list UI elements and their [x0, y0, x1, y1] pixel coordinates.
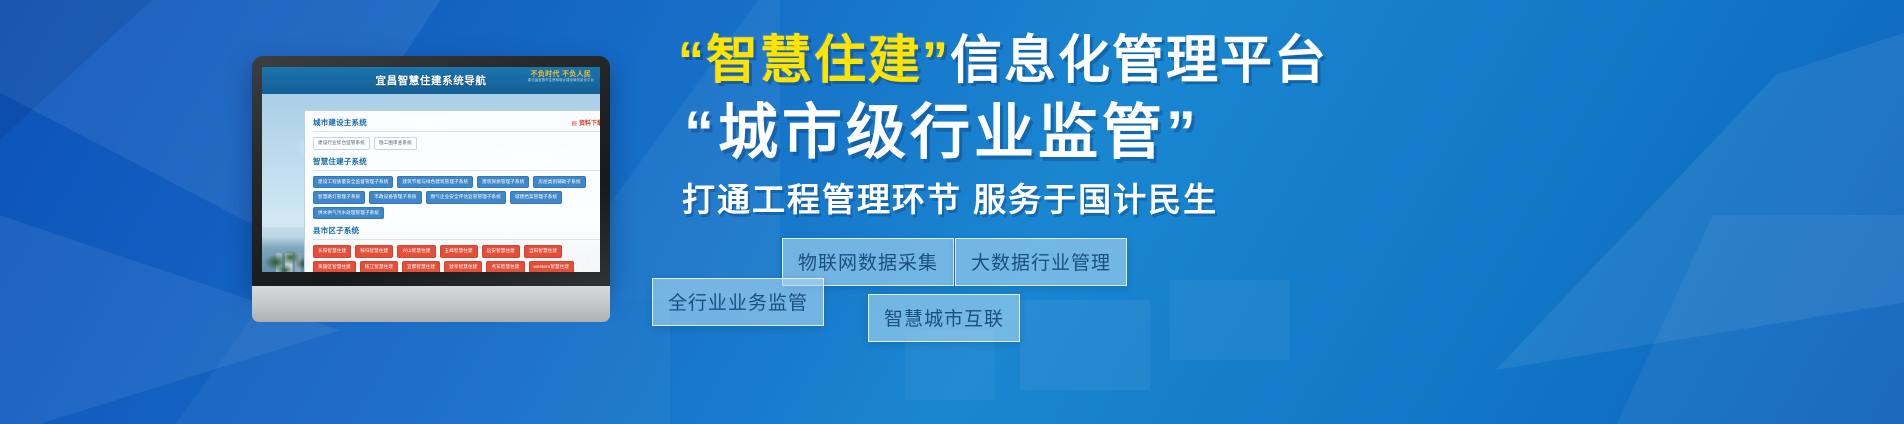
- screen-nav-card: 城市建设主系统 ▤资料下载 建设行业综合监管系统 施工图审查系统 智慧住建子系统…: [304, 110, 600, 272]
- screen-chip[interactable]: 远安智慧住建: [482, 245, 520, 258]
- feature-tag-all-business[interactable]: 全行业业务监管: [652, 278, 824, 326]
- feature-tag-bigdata[interactable]: 大数据行业管理: [955, 238, 1127, 286]
- screen-download-link[interactable]: ▤资料下载: [571, 118, 600, 127]
- bg-shape-right-slab: [1614, 215, 1904, 424]
- screen-section-title-sub: 智慧住建子系统: [313, 156, 600, 171]
- screen-chip[interactable]: 建筑资质管理子系统: [477, 176, 529, 189]
- screen-chip[interactable]: 枝江智慧住建: [360, 261, 398, 272]
- headline-line-3: 打通工程管理环节 服务于国计民生: [640, 180, 1640, 220]
- screen-chip-group-main: 建设行业综合监管系统 施工图审查系统: [313, 137, 600, 150]
- headline-line-1-rest: 信息化管理平台: [950, 32, 1328, 90]
- screen-chip[interactable]: 点军智慧住建: [486, 261, 524, 272]
- bg-shape-square-b: [1170, 280, 1290, 360]
- headline-line-2: “城市级行业监管”: [640, 99, 1640, 166]
- screen-chip[interactable]: 市政设备管理子系统: [369, 191, 421, 204]
- screen-chip[interactable]: 夷陵区智慧住建: [313, 261, 356, 272]
- bg-shape-square-a: [1020, 300, 1150, 390]
- screen-chip[interactable]: 五峰智慧住建: [440, 245, 478, 258]
- screen-header-title: 宜昌智慧住建系统导航: [376, 73, 487, 88]
- monitor-bezel: 宜昌智慧住建系统导航 不负时代 不负人民 湖北省宜昌市住房和城乡建设局信息化平台…: [252, 56, 610, 288]
- monitor-screen: 宜昌智慧住建系统导航 不负时代 不负人民 湖北省宜昌市住房和城乡建设局信息化平台…: [262, 67, 600, 272]
- screen-chip[interactable]: 建筑节能与绿色建筑管理子系统: [397, 176, 473, 189]
- screen-chip[interactable]: 当阳智慧住建: [524, 245, 562, 258]
- screen-brand-logo: 不负时代 不负人民 湖北省宜昌市住房和城乡建设局信息化平台: [528, 71, 594, 82]
- screen-chip[interactable]: 秭归智慧住建: [355, 245, 393, 258]
- promo-banner: 宜昌智慧住建系统导航 不负时代 不负人民 湖北省宜昌市住房和城乡建设局信息化平台…: [0, 0, 1904, 424]
- screen-chip[interactable]: 房屋类别辅助子系统: [533, 176, 585, 189]
- screen-section-title-county: 县市区子系统: [313, 225, 600, 240]
- headline-highlight: “智慧住建”: [678, 32, 950, 90]
- screen-chip[interactable]: 城建档案管理子系统: [510, 191, 562, 204]
- screen-chip[interactable]: 建设行业综合监管系统: [313, 137, 370, 150]
- screen-chip[interactable]: 燃气企业安全评估监管管理子系统: [426, 191, 506, 204]
- screen-body: 城市建设主系统 ▤资料下载 建设行业综合监管系统 施工图审查系统 智慧住建子系统…: [262, 94, 600, 272]
- screen-chip[interactable]: 供水供气污水处理管理子系统: [313, 207, 384, 220]
- screen-section-title-main: 城市建设主系统: [313, 117, 367, 128]
- headline-line-1: “智慧住建”信息化管理平台: [640, 34, 1640, 89]
- screen-chip[interactable]: 建设工程质量安全监督管理子系统: [313, 176, 393, 189]
- screen-section-header-main: 城市建设主系统 ▤资料下载: [313, 117, 600, 132]
- screen-brand-logo-sub: 湖北省宜昌市住房和城乡建设局信息化平台: [528, 79, 594, 82]
- download-icon: ▤: [571, 121, 577, 127]
- screen-chip[interactable]: 兴山智慧住建: [397, 245, 435, 258]
- imac-mockup: 宜昌智慧住建系统导航 不负时代 不负人民 湖北省宜昌市住房和城乡建设局信息化平台…: [252, 56, 610, 318]
- screen-chip-group-county: 长阳智慧住建 秭归智慧住建 兴山智慧住建 五峰智慧住建 远安智慧住建 当阳智慧住…: [313, 245, 600, 272]
- screen-brand-logo-main: 不负时代 不负人民: [528, 71, 594, 78]
- screen-download-label: 资料下载: [579, 121, 600, 127]
- screen-chip[interactable]: 长阳智慧住建: [313, 245, 351, 258]
- screen-chip[interactable]: 施工图审查系统: [374, 137, 417, 150]
- screen-chip[interactable]: 宜都智慧住建: [402, 261, 440, 272]
- screen-chip-group-sub: 建设工程质量安全监督管理子系统 建筑节能与绿色建筑管理子系统 建筑资质管理子系统…: [313, 176, 600, 220]
- screen-chip[interactable]: western智慧住建: [529, 261, 575, 272]
- feature-tag-smart-city[interactable]: 智慧城市互联: [868, 294, 1020, 342]
- screen-header: 宜昌智慧住建系统导航 不负时代 不负人民 湖北省宜昌市住房和城乡建设局信息化平台: [262, 67, 600, 94]
- headline-block: “智慧住建”信息化管理平台 “城市级行业监管” 打通工程管理环节 服务于国计民生: [640, 34, 1640, 220]
- screen-chip[interactable]: 猇亭智慧住建: [444, 261, 482, 272]
- monitor-chin: [252, 286, 610, 322]
- screen-chip[interactable]: 智慧路灯管理子系统: [313, 191, 365, 204]
